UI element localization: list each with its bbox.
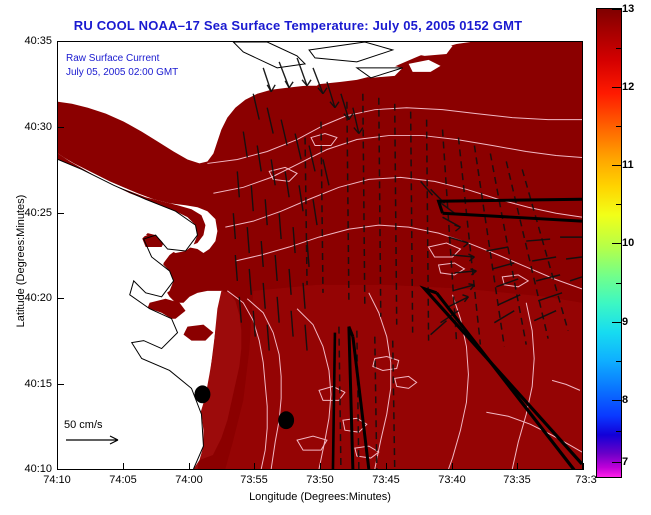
current-annotation: Raw Surface Current July 05, 2005 02:00 … [66, 52, 178, 80]
xtick-label: 73:50 [306, 474, 334, 486]
xtick-label: 73:45 [372, 474, 400, 486]
figure-title: RU COOL NOAA–17 Sea Surface Temperature:… [0, 18, 596, 33]
sst-map-figure: RU COOL NOAA–17 Sea Surface Temperature:… [0, 0, 651, 515]
colorbar-minor-tick [616, 48, 622, 49]
ytick-mark [57, 127, 64, 128]
colorbar-minor-tick [616, 431, 622, 432]
scale-arrow-icon [64, 433, 128, 447]
xtick-label: 74:00 [175, 474, 203, 486]
xtick-label: 73:35 [503, 474, 531, 486]
xtick-label: 74:05 [109, 474, 137, 486]
colorbar-tick-mark [612, 9, 622, 10]
xtick-label: 73:40 [438, 474, 466, 486]
xtick-mark [583, 463, 584, 470]
colorbar-tick-mark [612, 400, 622, 401]
xtick-mark [386, 463, 387, 470]
colorbar-tick-mark [612, 462, 622, 463]
velocity-scale-bar: 50 cm/s [64, 419, 128, 447]
y-axis-label: Latitude (Degrees:Minutes) [15, 161, 27, 361]
colorbar-tick-label: 12 [622, 81, 634, 93]
annotation-line-2: July 05, 2005 02:00 GMT [66, 66, 178, 80]
map-plot-area[interactable]: Raw Surface Current July 05, 2005 02:00 … [57, 41, 583, 470]
xtick-mark [320, 463, 321, 470]
xtick-mark [123, 463, 124, 470]
map-canvas [58, 42, 582, 469]
ytick-mark [57, 41, 64, 42]
colorbar-tick-label: 11 [622, 159, 634, 171]
xtick-mark [189, 463, 190, 470]
colorbar-tick-label: 9 [622, 316, 628, 328]
xtick-label: 73:55 [240, 474, 268, 486]
colorbar-minor-tick [616, 204, 622, 205]
scale-bar-label: 50 cm/s [64, 419, 128, 431]
xtick-mark [517, 463, 518, 470]
colorbar-tick-mark [612, 165, 622, 166]
ytick-mark [57, 298, 64, 299]
ytick-mark [57, 384, 64, 385]
xtick-mark [452, 463, 453, 470]
annotation-line-1: Raw Surface Current [66, 52, 178, 66]
colorbar-minor-tick [616, 126, 622, 127]
x-axis-label: Longitude (Degrees:Minutes) [57, 491, 583, 503]
colorbar-tick-mark [612, 322, 622, 323]
colorbar-minor-tick [616, 283, 622, 284]
ytick-mark [57, 469, 64, 470]
xtick-label: 73:3 [575, 474, 596, 486]
colorbar-tick-label: 10 [622, 237, 634, 249]
ytick-mark [57, 213, 64, 214]
xtick-mark [254, 463, 255, 470]
colorbar-tick-label: 13 [622, 3, 634, 15]
colorbar-tick-mark [612, 87, 622, 88]
colorbar-tick-mark [612, 243, 622, 244]
colorbar-tick-label: 8 [622, 394, 628, 406]
colorbar-minor-tick [616, 361, 622, 362]
colorbar-tick-label: 7 [622, 456, 628, 468]
xtick-label: 74:10 [43, 474, 71, 486]
